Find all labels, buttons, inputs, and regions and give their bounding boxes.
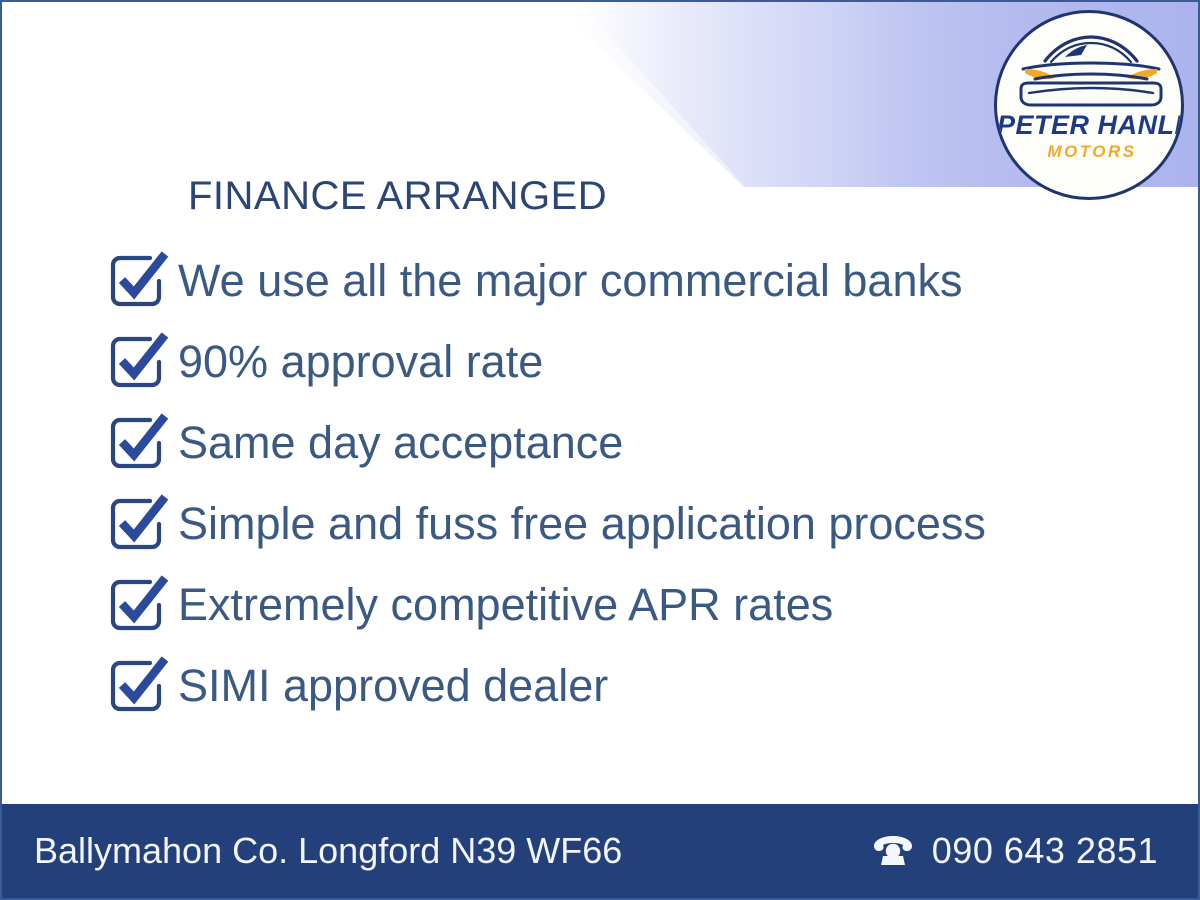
list-item: Simple and fuss free application process — [106, 483, 1106, 564]
list-item-label: Simple and fuss free application process — [178, 501, 986, 546]
list-item-label: We use all the major commercial banks — [178, 258, 962, 303]
checkbox-checked-icon — [106, 250, 168, 312]
car-front-icon — [1011, 31, 1171, 109]
footer-phone-group[interactable]: 090 643 2851 — [872, 830, 1158, 872]
checkbox-checked-icon — [106, 574, 168, 636]
telephone-icon — [872, 834, 914, 868]
list-item: Same day acceptance — [106, 402, 1106, 483]
checkbox-checked-icon — [106, 331, 168, 393]
list-item-label: Extremely competitive APR rates — [178, 582, 833, 627]
logo-brand-sub: MOTORS — [997, 142, 1184, 162]
list-item: SIMI approved dealer — [106, 645, 1106, 726]
footer-bar: Ballymahon Co. Longford N39 WF66 090 643… — [2, 804, 1198, 898]
list-item: We use all the major commercial banks — [106, 240, 1106, 321]
logo-brand-name: PETER HANLEY — [997, 110, 1184, 141]
list-item-label: 90% approval rate — [178, 339, 543, 384]
dealer-logo[interactable]: PETER HANLEY MOTORS — [994, 10, 1184, 200]
checkbox-checked-icon — [106, 493, 168, 555]
checkbox-checked-icon — [106, 412, 168, 474]
checkbox-checked-icon — [106, 655, 168, 717]
feature-list: We use all the major commercial banks 90… — [106, 240, 1106, 726]
logo-circle: PETER HANLEY MOTORS — [994, 10, 1184, 200]
list-item: 90% approval rate — [106, 321, 1106, 402]
list-item: Extremely competitive APR rates — [106, 564, 1106, 645]
finance-arranged-banner: PETER HANLEY MOTORS FINANCE ARRANGED We … — [0, 0, 1200, 900]
list-item-label: SIMI approved dealer — [178, 663, 608, 708]
page-title: FINANCE ARRANGED — [188, 174, 607, 219]
footer-phone-number: 090 643 2851 — [932, 830, 1158, 872]
list-item-label: Same day acceptance — [178, 420, 623, 465]
footer-address: Ballymahon Co. Longford N39 WF66 — [34, 830, 622, 872]
